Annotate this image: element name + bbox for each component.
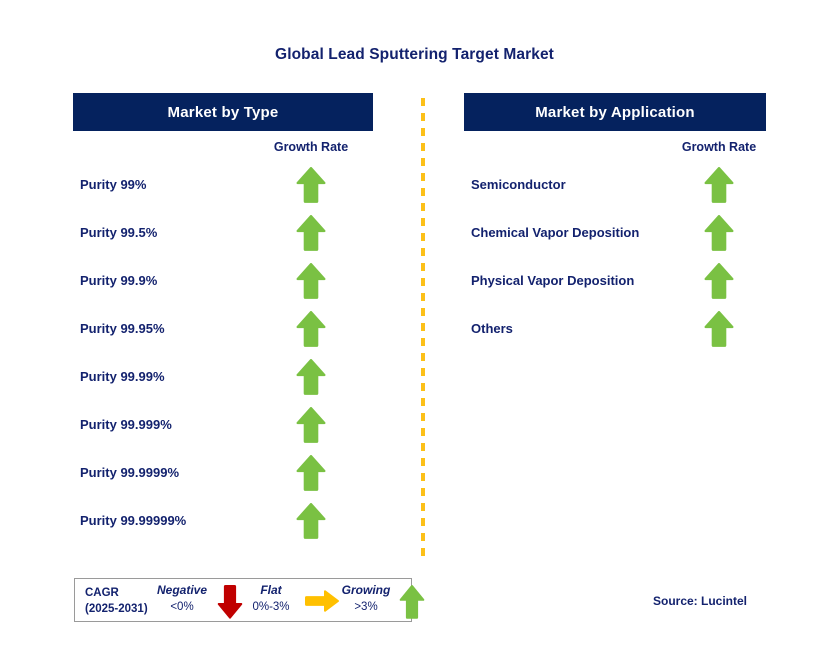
table-row: Purity 99.999%	[73, 405, 373, 453]
source-label: Source: Lucintel	[653, 594, 747, 608]
panel-header-type: Market by Type	[73, 93, 373, 131]
arrow-up-icon	[294, 501, 328, 541]
arrow-up-icon	[702, 213, 736, 253]
arrow-up-icon	[702, 261, 736, 301]
table-row: Purity 99.9999%	[73, 453, 373, 501]
type-row-label: Purity 99.9%	[80, 273, 157, 288]
legend-box: CAGR (2025-2031) Negative <0% Flat 0%-3%…	[74, 578, 412, 622]
market-by-type-panel: Market by Type Growth Rate Purity 99%Pur…	[73, 93, 373, 131]
type-row-label: Purity 99.99999%	[80, 513, 186, 528]
arrow-up-icon	[702, 165, 736, 205]
table-row: Others	[464, 309, 766, 357]
table-row: Semiconductor	[464, 165, 766, 213]
legend-cagr-period: (2025-2031)	[85, 601, 148, 617]
legend-item-flat: Flat 0%-3%	[235, 582, 307, 616]
legend-negative-title: Negative	[145, 582, 219, 599]
application-row-label: Others	[471, 321, 513, 336]
table-row: Purity 99.5%	[73, 213, 373, 261]
legend-negative-range: <0%	[145, 599, 219, 616]
arrow-up-icon	[294, 453, 328, 493]
page-title: Global Lead Sputtering Target Market	[0, 46, 829, 64]
table-row: Purity 99.95%	[73, 309, 373, 357]
arrow-up-icon	[294, 405, 328, 445]
arrow-down-icon	[215, 583, 245, 621]
application-row-list: SemiconductorChemical Vapor DepositionPh…	[464, 165, 766, 357]
legend-flat-title: Flat	[235, 582, 307, 599]
arrow-up-icon	[702, 309, 736, 349]
application-row-label: Chemical Vapor Deposition	[471, 225, 639, 240]
type-row-label: Purity 99%	[80, 177, 146, 192]
arrow-up-icon	[294, 261, 328, 301]
legend-item-negative: Negative <0%	[145, 582, 219, 616]
growth-rate-label-type: Growth Rate	[261, 140, 361, 154]
type-row-list: Purity 99%Purity 99.5%Purity 99.9%Purity…	[73, 165, 373, 549]
table-row: Purity 99.99%	[73, 357, 373, 405]
table-row: Purity 99.9%	[73, 261, 373, 309]
arrow-up-icon	[294, 213, 328, 253]
type-row-label: Purity 99.9999%	[80, 465, 179, 480]
arrow-right-icon	[303, 587, 341, 615]
arrow-up-icon	[294, 165, 328, 205]
type-row-label: Purity 99.999%	[80, 417, 172, 432]
table-row: Chemical Vapor Deposition	[464, 213, 766, 261]
type-row-label: Purity 99.5%	[80, 225, 157, 240]
growth-rate-label-application: Growth Rate	[669, 140, 769, 154]
type-row-label: Purity 99.99%	[80, 369, 165, 384]
application-row-label: Semiconductor	[471, 177, 566, 192]
panel-header-application: Market by Application	[464, 93, 766, 131]
table-row: Purity 99%	[73, 165, 373, 213]
type-row-label: Purity 99.95%	[80, 321, 165, 336]
vertical-dashed-divider	[421, 98, 425, 563]
legend-cagr: CAGR (2025-2031)	[85, 585, 148, 617]
arrow-up-icon	[294, 357, 328, 397]
application-row-label: Physical Vapor Deposition	[471, 273, 634, 288]
table-row: Purity 99.99999%	[73, 501, 373, 549]
arrow-up-icon	[397, 583, 427, 621]
legend-cagr-label: CAGR	[85, 585, 148, 601]
legend-flat-range: 0%-3%	[235, 599, 307, 616]
market-by-application-panel: Market by Application Growth Rate Semico…	[464, 93, 766, 131]
table-row: Physical Vapor Deposition	[464, 261, 766, 309]
arrow-up-icon	[294, 309, 328, 349]
